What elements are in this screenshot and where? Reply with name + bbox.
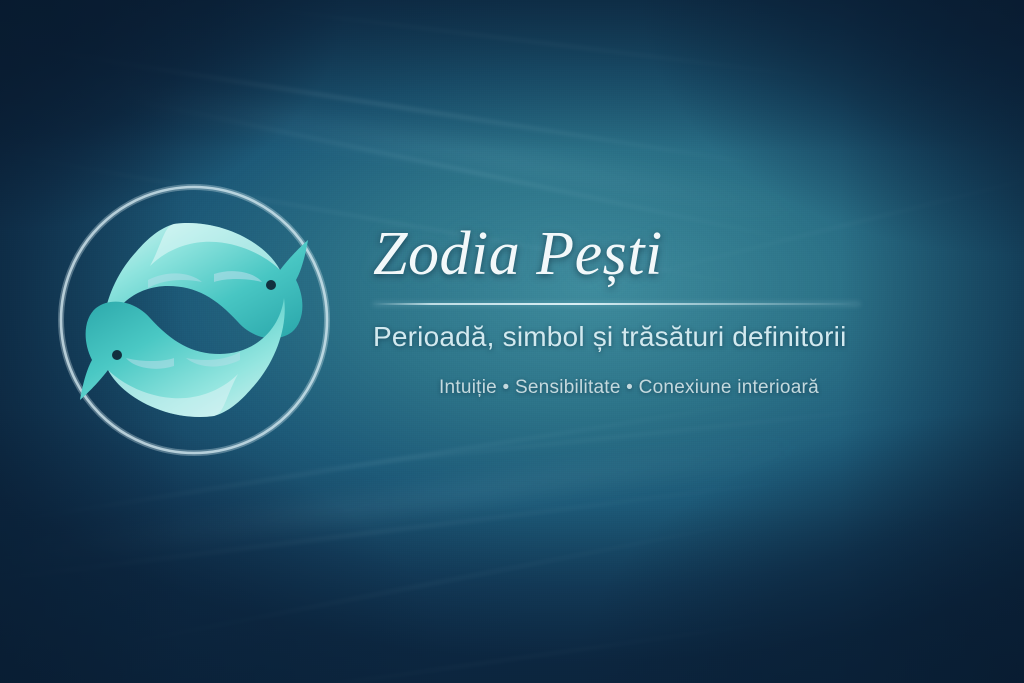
- page-subtitle: Perioadă, simbol și trăsături definitori…: [373, 321, 913, 353]
- fish-upper-eye: [266, 280, 276, 290]
- title-divider: [373, 303, 860, 305]
- title-block: Zodia Pești Perioadă, simbol și trăsătur…: [373, 222, 913, 399]
- page-tagline: Intuiție • Sensibilitate • Conexiune int…: [439, 377, 913, 399]
- fish-lower-eye: [112, 350, 122, 360]
- slide-canvas: Zodia Pești Perioadă, simbol și trăsătur…: [0, 0, 1024, 683]
- pisces-emblem: [56, 182, 332, 458]
- page-title: Zodia Pești: [373, 222, 913, 287]
